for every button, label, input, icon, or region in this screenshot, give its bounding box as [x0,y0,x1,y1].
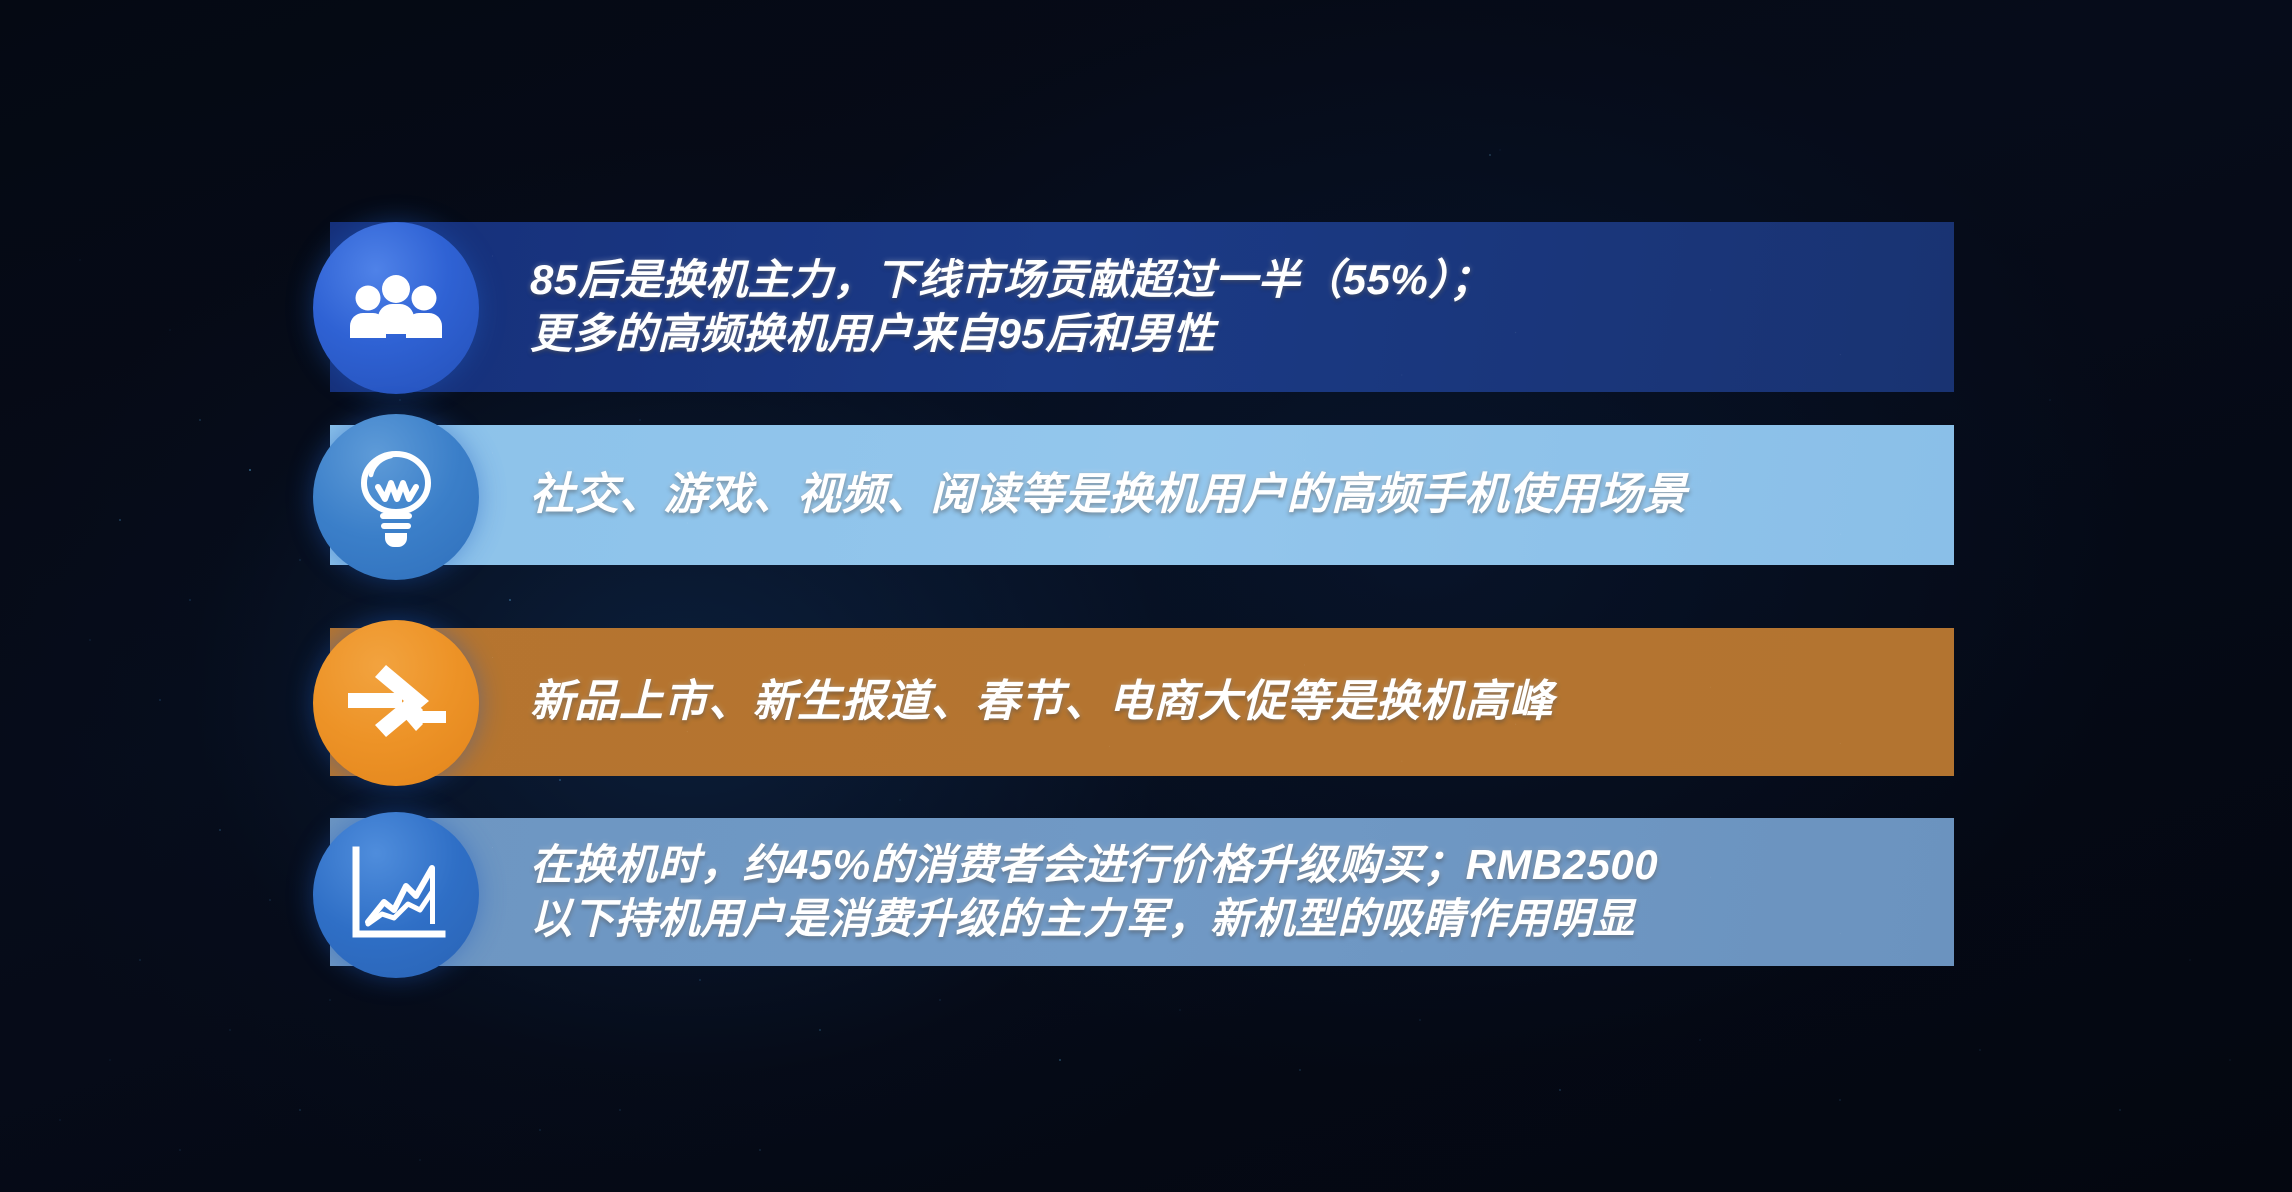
insight-bar-1: 85后是换机主力，下线市场贡献超过一半（55%）； 更多的高频换机用户来自95后… [330,222,1954,392]
particle-layer-near [0,0,2292,1192]
slide-canvas: 85后是换机主力，下线市场贡献超过一半（55%）； 更多的高频换机用户来自95后… [0,0,2292,1192]
particle-layer-far [0,0,2292,1192]
particle-layer-mid [0,0,2292,1192]
people-group-icon [313,222,479,394]
insight-text-3: 新品上市、新生报道、春节、电商大促等是换机高峰 [530,674,1554,730]
line-chart-icon [313,812,479,978]
insight-text-2: 社交、游戏、视频、阅读等是换机用户的高频手机使用场景 [530,467,1687,523]
insight-bar-3: 新品上市、新生报道、春节、电商大促等是换机高峰 [330,628,1954,776]
insight-text-1: 85后是换机主力，下线市场贡献超过一半（55%）； 更多的高频换机用户来自95后… [530,253,1492,361]
converging-arrows-icon [313,620,479,786]
lightbulb-icon [313,414,479,580]
insight-text-4: 在换机时，约45%的消费者会进行价格升级购买；RMB2500 以下持机用户是消费… [530,838,1658,946]
insight-bar-4: 在换机时，约45%的消费者会进行价格升级购买；RMB2500 以下持机用户是消费… [330,818,1954,966]
insight-bar-2: 社交、游戏、视频、阅读等是换机用户的高频手机使用场景 [330,425,1954,565]
